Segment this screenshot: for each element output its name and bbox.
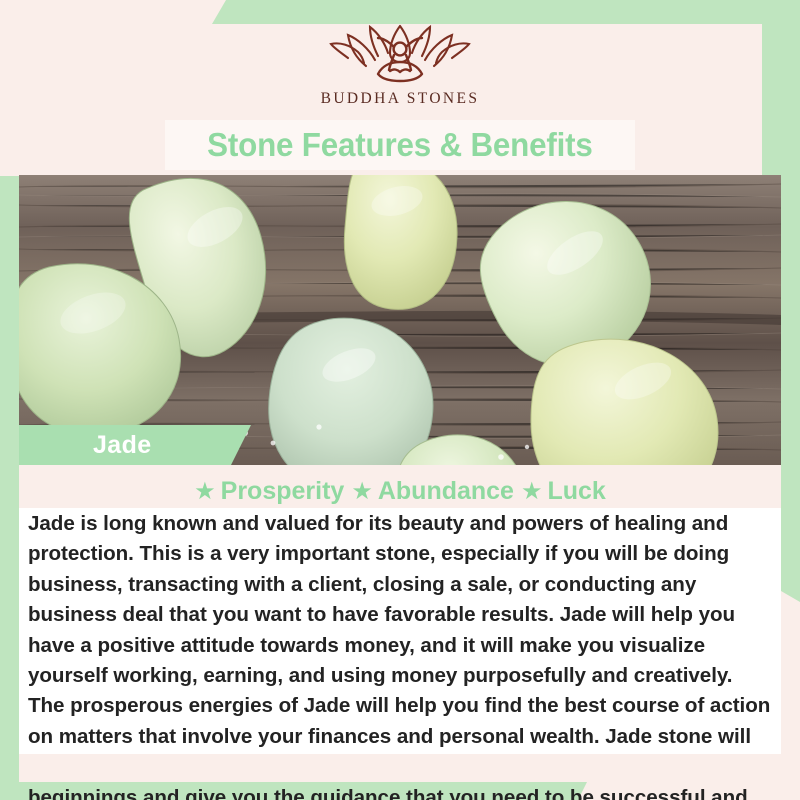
benefit-prosperity: ★ Prosperity [194,477,344,506]
benefit-label: Prosperity [221,477,345,506]
decorative-green-left-strip [0,176,19,782]
stone-name-label: Jade [93,431,152,460]
content-card: ★ Prosperity ★ Abundance ★ Luck Jade is … [19,465,781,782]
benefit-label: Luck [547,477,605,506]
brand-wordmark: BUDDHA STONES [321,90,480,108]
star-icon: ★ [351,480,373,504]
benefit-label: Abundance [378,477,514,506]
page-title: Stone Features & Benefits [207,126,592,164]
header: BUDDHA STONES [0,0,800,118]
star-icon: ★ [521,480,543,504]
brand-logo: BUDDHA STONES [0,22,800,108]
stone-name-band: Jade [19,425,251,465]
infographic-page: BUDDHA STONES Stone Features & Benefits [0,0,800,800]
title-banner: Stone Features & Benefits [165,120,635,170]
benefit-abundance: ★ Abundance [351,477,514,506]
card-top-stripe [19,465,781,477]
benefits-row: ★ Prosperity ★ Abundance ★ Luck [19,477,781,508]
benefit-luck: ★ Luck [521,477,606,506]
lotus-meditation-icon [326,22,474,84]
card-bottom-stripe [19,754,781,782]
photo-illustration [19,175,781,465]
star-icon: ★ [194,480,216,504]
tumbled-jade-stones-photo [19,175,781,465]
